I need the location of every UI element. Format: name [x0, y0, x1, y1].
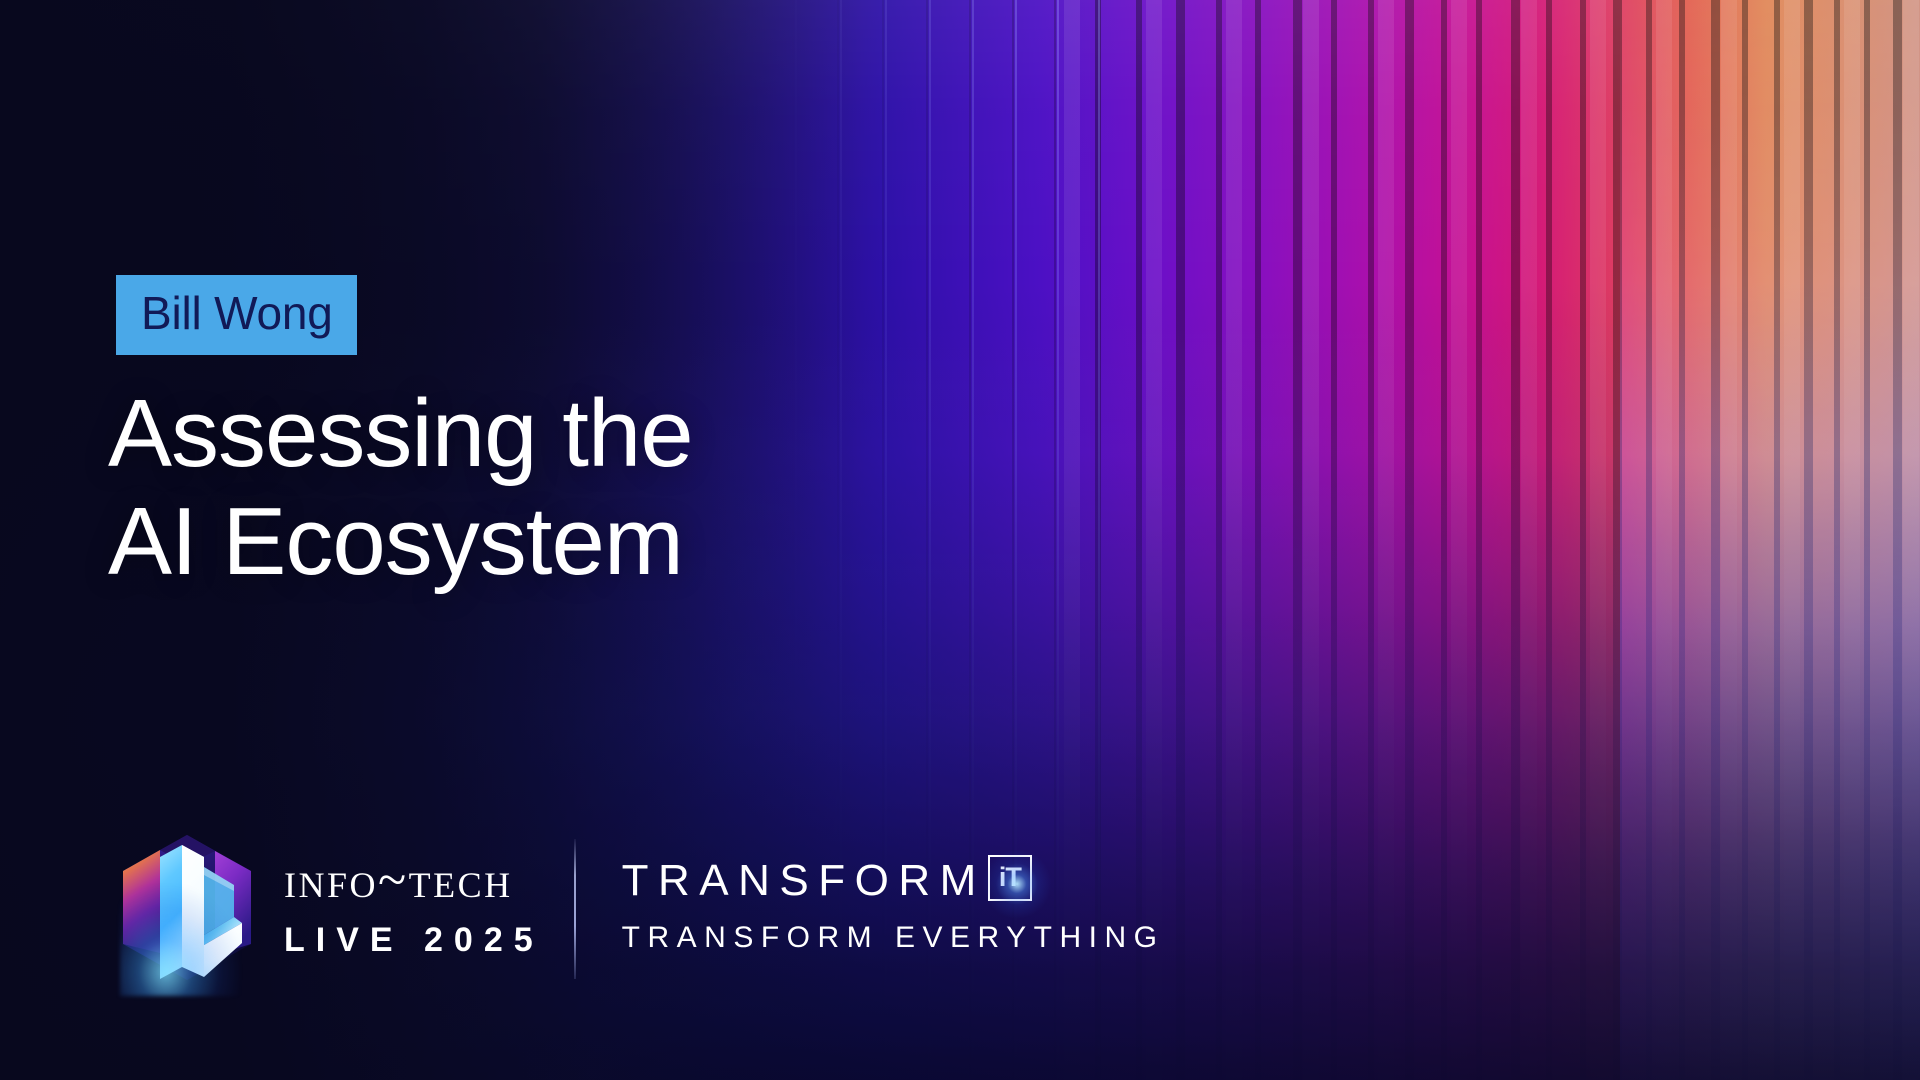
presentation-slide: Bill Wong Assessing the AI Ecosystem — [0, 0, 1920, 1080]
it-mark-glyph: iT — [988, 855, 1032, 901]
hex-logo-svg — [112, 827, 262, 992]
info-tech-name: Info~Tech — [284, 855, 544, 907]
hex-L-stem-front — [182, 845, 204, 977]
transform-tagline: TRANSFORM EVERYTHING — [622, 923, 1165, 953]
brand-lockup: Info~Tech LIVE 2025 TRANSFORM iT TRANSFO… — [112, 834, 1164, 984]
slide-title: Assessing the AI Ecosystem — [108, 380, 693, 597]
info-tech-hex-logo-icon — [112, 827, 262, 992]
transform-it-mark-icon: iT — [988, 855, 1032, 901]
hex-left-face — [123, 850, 160, 953]
transform-wordmark: TRANSFORM iT TRANSFORM EVERYTHING — [622, 859, 1165, 959]
lockup-divider — [574, 839, 576, 979]
transform-title-row: TRANSFORM iT — [622, 859, 1165, 903]
info-tech-event-label: LIVE 2025 — [284, 923, 544, 957]
transform-name: TRANSFORM — [622, 859, 986, 903]
hex-L-stem-side — [160, 845, 182, 979]
speaker-name-badge: Bill Wong — [116, 275, 357, 355]
info-tech-wordmark: Info~Tech LIVE 2025 — [284, 855, 544, 963]
